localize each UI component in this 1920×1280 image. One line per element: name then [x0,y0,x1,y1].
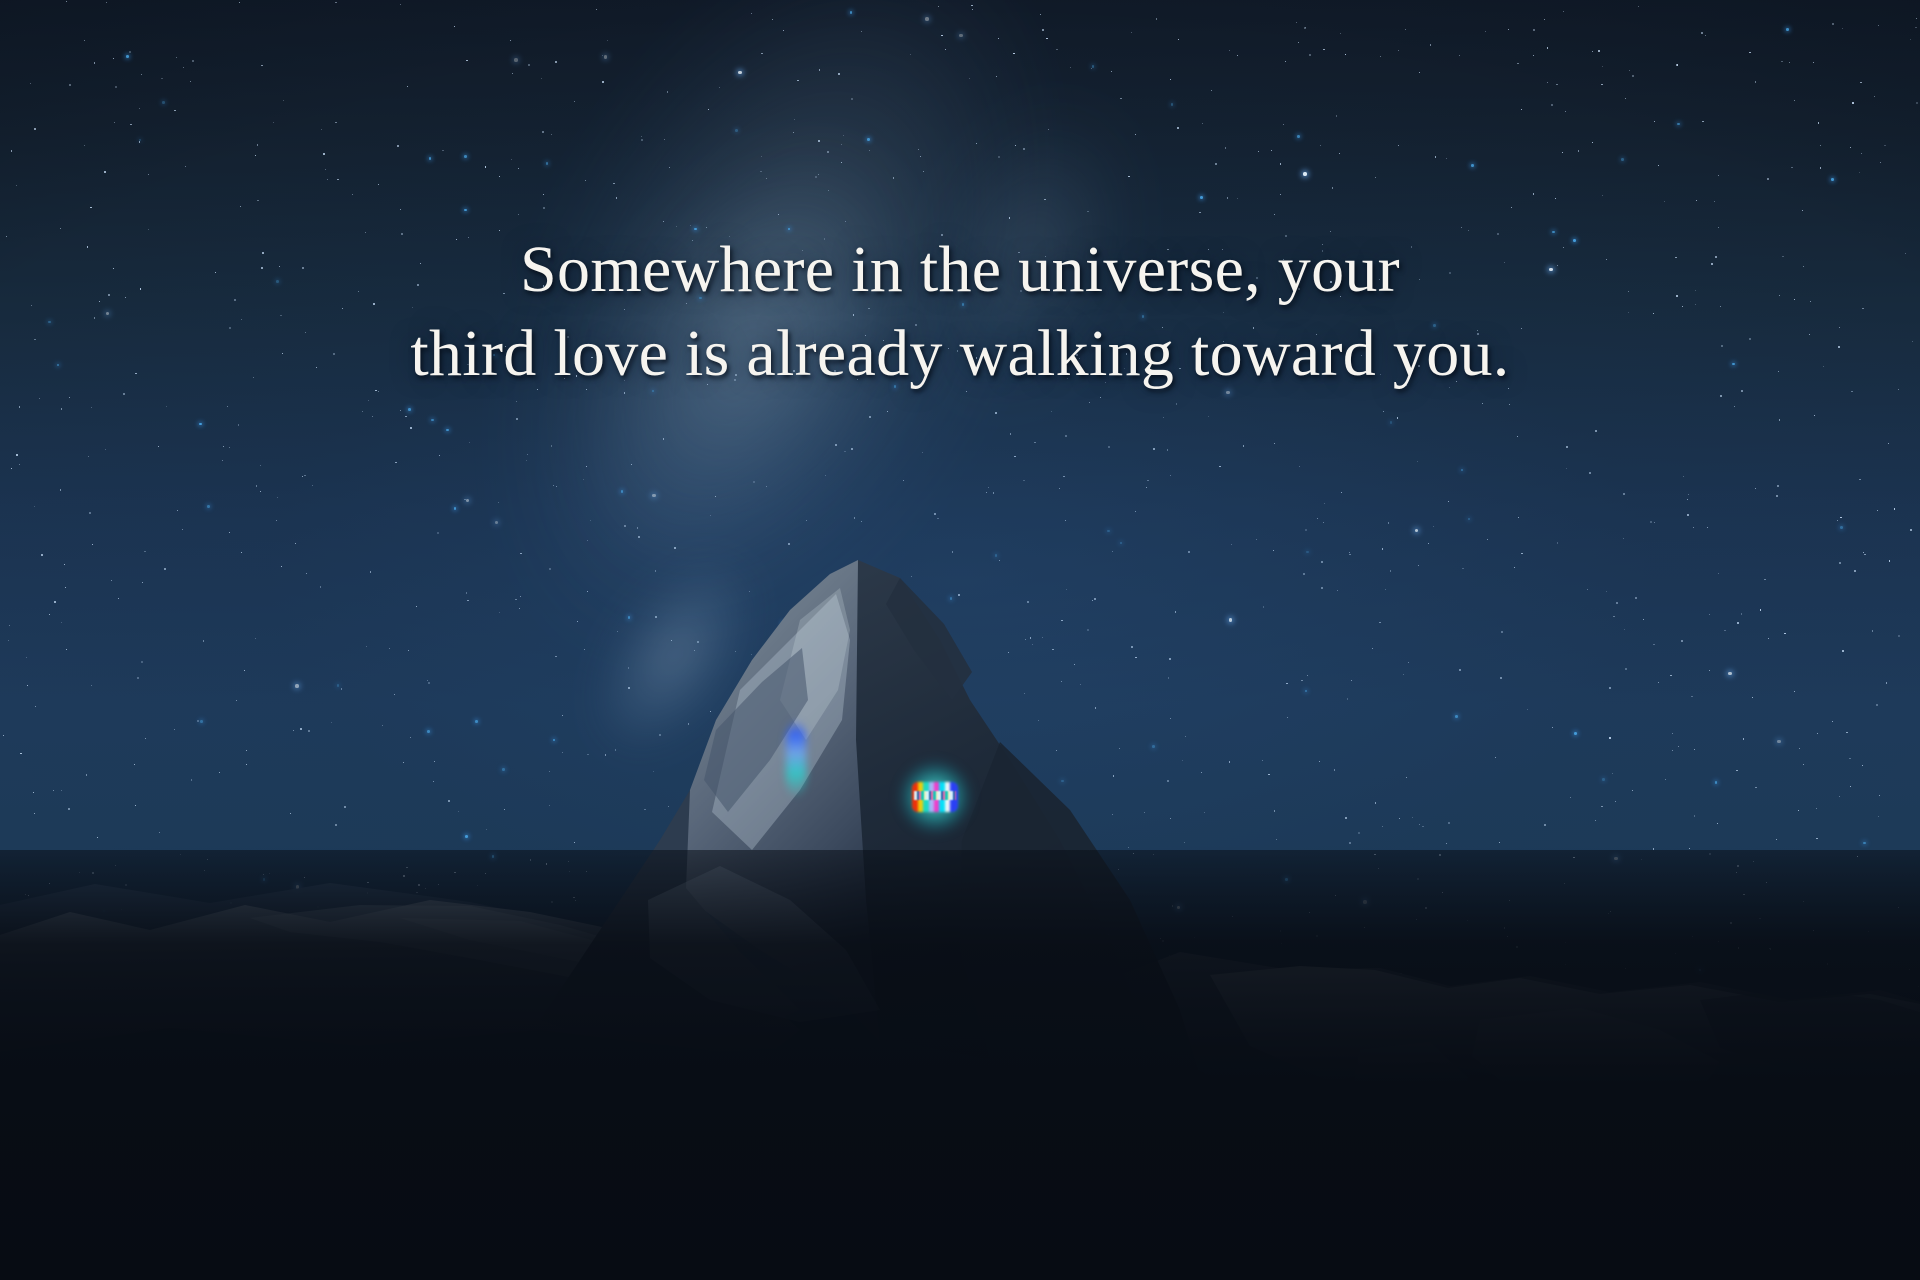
sky-vignette [0,0,1920,1280]
wallpaper-canvas: Somewhere in the universe, your third lo… [0,0,1920,1280]
